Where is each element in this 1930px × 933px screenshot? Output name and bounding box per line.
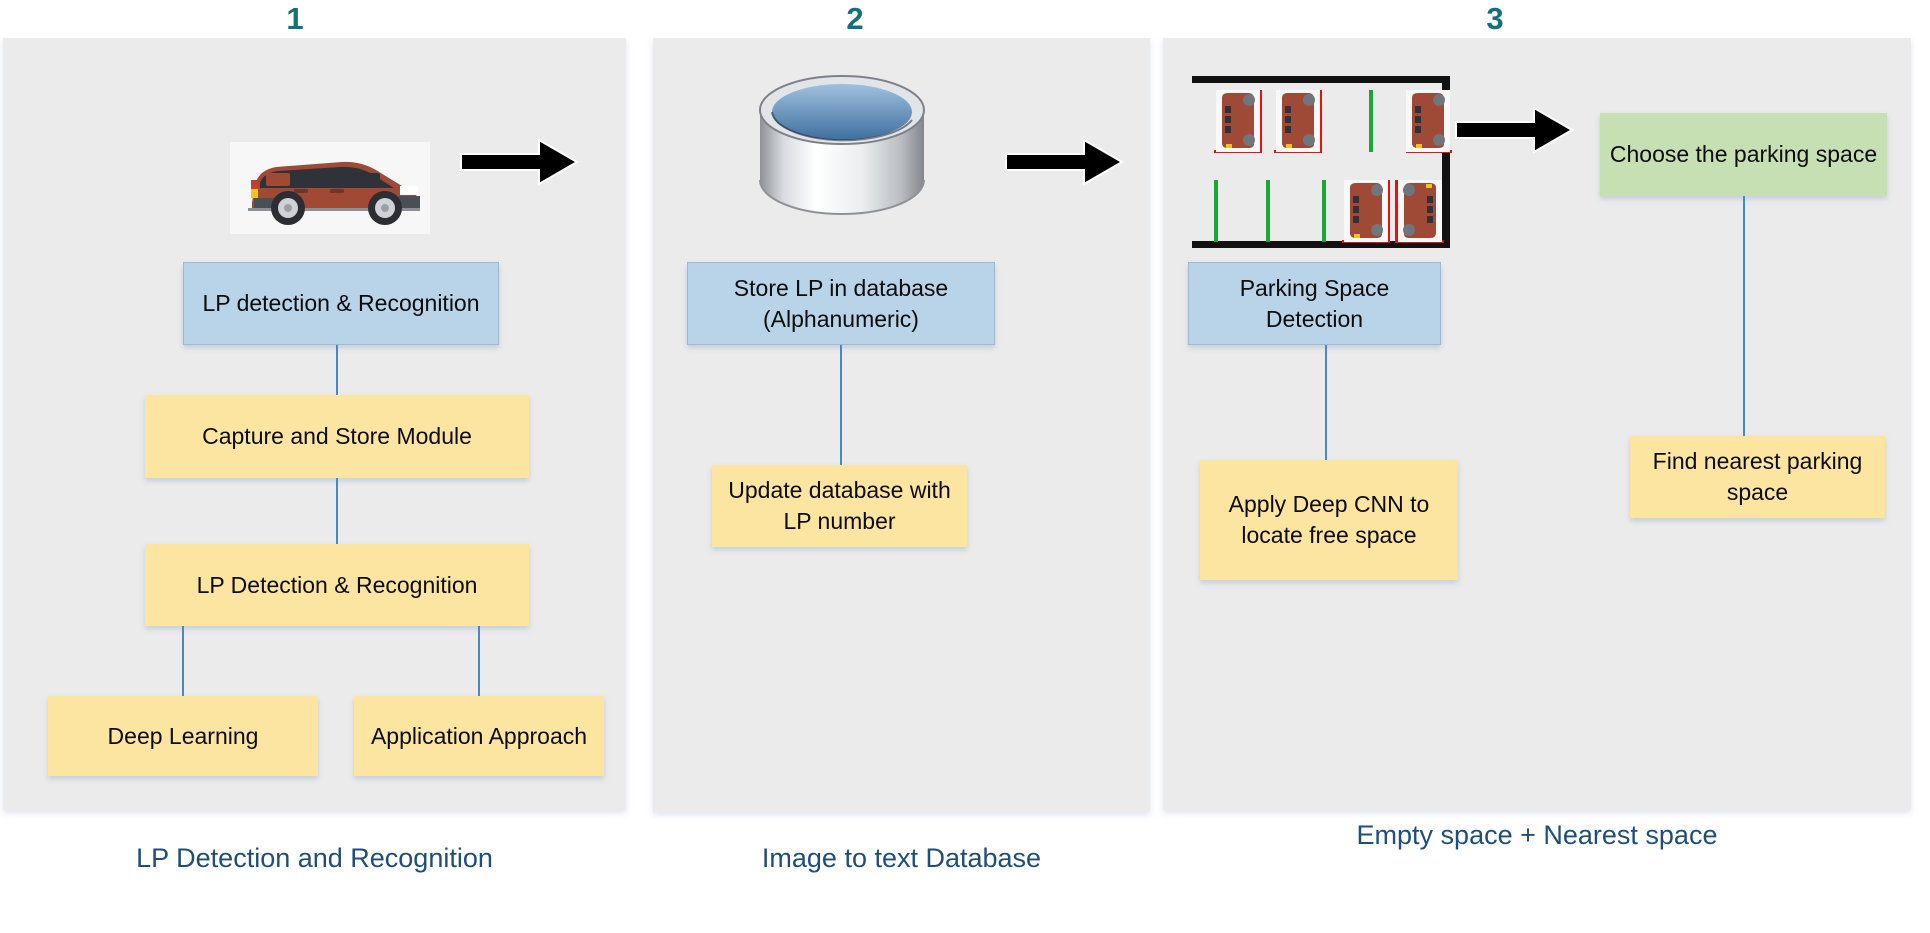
box-label: Parking Space Detection xyxy=(1195,273,1434,335)
car-photo xyxy=(230,142,430,234)
box-find-nearest-space[interactable]: Find nearest parking space xyxy=(1630,436,1885,518)
box-apply-deep-cnn[interactable]: Apply Deep CNN to locate free space xyxy=(1200,460,1458,580)
arrow-step3-to-choose-icon xyxy=(1450,100,1580,160)
connector-2a xyxy=(840,345,842,465)
box-label: Deep Learning xyxy=(108,721,259,752)
box-label: Find nearest parking space xyxy=(1636,446,1879,508)
caption-step-1: LP Detection and Recognition xyxy=(3,838,626,878)
box-deep-learning[interactable]: Deep Learning xyxy=(48,696,318,776)
caption-step-2: Image to text Database xyxy=(653,838,1150,878)
step-number-1: 1 xyxy=(265,2,325,36)
parking-lot-diagram xyxy=(1184,62,1474,252)
box-application-approach[interactable]: Application Approach xyxy=(354,696,604,776)
box-label: Capture and Store Module xyxy=(202,421,472,452)
box-label: LP Detection & Recognition xyxy=(197,570,478,601)
connector-1c-left xyxy=(182,626,184,696)
box-capture-and-store-module[interactable]: Capture and Store Module xyxy=(145,395,529,478)
box-label: Update database with LP number xyxy=(718,475,961,537)
box-choose-parking-space[interactable]: Choose the parking space xyxy=(1600,113,1887,196)
box-label: Application Approach xyxy=(371,721,587,752)
connector-3b xyxy=(1743,196,1745,436)
connector-1c-right xyxy=(478,626,480,696)
arrow-step2-to-step3-icon xyxy=(1000,132,1130,192)
diagram-canvas: 1 2 3 xyxy=(0,0,1930,933)
box-label: Choose the parking space xyxy=(1610,139,1877,170)
box-lp-detection-recognition[interactable]: LP Detection & Recognition xyxy=(145,544,529,626)
arrow-step1-to-step2-icon xyxy=(455,132,585,192)
connector-1a xyxy=(336,345,338,395)
caption-step-3: Empty space + Nearest space xyxy=(1163,815,1911,855)
step-number-2: 2 xyxy=(825,2,885,36)
box-update-database[interactable]: Update database with LP number xyxy=(712,465,967,547)
box-lp-detection-recognition-top[interactable]: LP detection & Recognition xyxy=(183,262,499,345)
box-label: Store LP in database (Alphanumeric) xyxy=(694,273,988,335)
box-parking-space-detection[interactable]: Parking Space Detection xyxy=(1188,262,1441,345)
box-store-lp-in-database[interactable]: Store LP in database (Alphanumeric) xyxy=(687,262,995,345)
step-number-3: 3 xyxy=(1465,2,1525,36)
box-label: LP detection & Recognition xyxy=(202,288,479,319)
connector-1b xyxy=(336,478,338,544)
database-cylinder-icon xyxy=(752,62,932,222)
box-label: Apply Deep CNN to locate free space xyxy=(1206,489,1452,551)
connector-3a xyxy=(1325,345,1327,460)
